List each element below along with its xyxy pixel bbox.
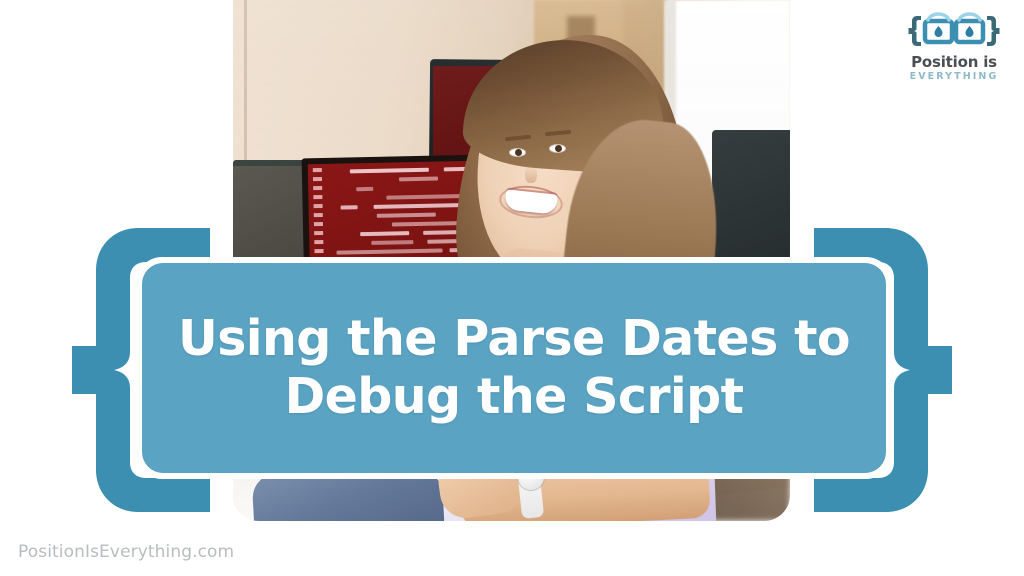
logo-wordmark: Position is [911,55,997,70]
logo-subtext: EVERYTHING [910,71,999,83]
page-title: Using the Parse Dates to Debug the Scrip… [152,310,876,426]
glasses-in-braces-icon [906,8,1002,54]
eye-right [549,144,566,153]
footer-site-url[interactable]: PositionIsEverything.com [18,542,234,562]
article-banner: Using the Parse Dates to Debug the Scrip… [0,0,1024,576]
site-logo[interactable]: Position is EVERYTHING [898,8,1010,86]
title-box: Using the Parse Dates to Debug the Scrip… [142,263,886,473]
page-title-line-2: Debug the Script [285,368,744,425]
page-title-line-1: Using the Parse Dates to [178,310,850,367]
eye-left [509,148,526,157]
nose [525,165,537,183]
